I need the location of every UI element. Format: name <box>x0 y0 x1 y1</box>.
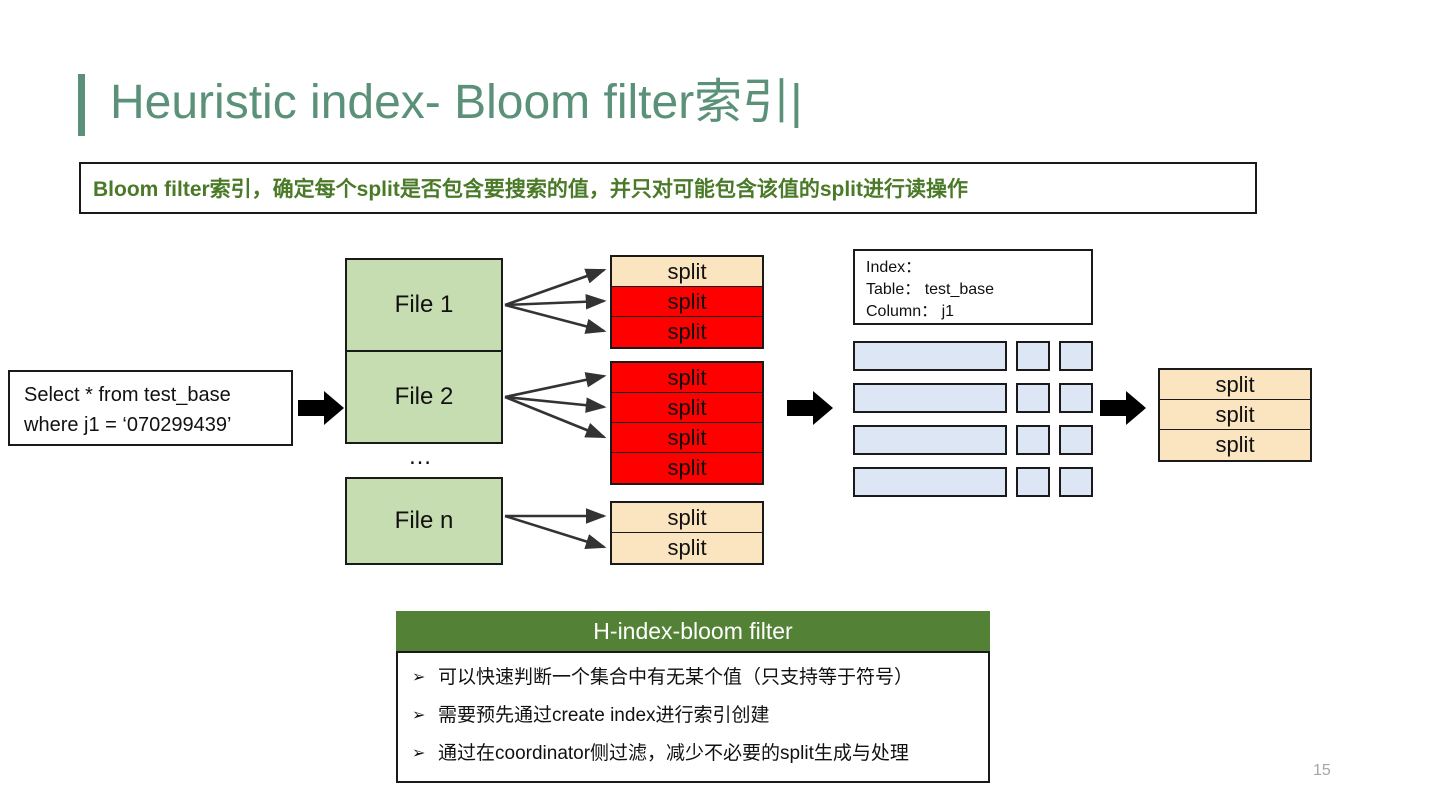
index-label-line: Index： <box>866 257 1091 279</box>
page-number: 15 <box>1313 762 1331 780</box>
panel-bullet-row: ➢通过在coordinator侧过滤，减少不必要的split生成与处理 <box>398 741 988 779</box>
sql-query-line-1: Select * from test_base <box>24 380 281 410</box>
sql-query-box: Select * from test_base where j1 = ‘0702… <box>8 370 293 446</box>
index-table-line: Table： test_base <box>866 279 1091 301</box>
flow-arrow-splits-to-index <box>787 391 833 425</box>
index-cell-grid <box>853 341 1093 497</box>
index-cell <box>1059 467 1093 497</box>
file-box-n: File n <box>345 477 503 565</box>
index-cell <box>1016 425 1050 455</box>
split-group-filen: splitsplit <box>610 501 764 565</box>
index-cell <box>853 383 1007 413</box>
split-cell: split <box>612 257 762 287</box>
index-cell <box>853 425 1007 455</box>
index-info-box: Index： Table： test_base Column： j1 <box>853 249 1093 325</box>
panel-header: H-index-bloom filter <box>396 611 990 651</box>
index-cell <box>1059 341 1093 371</box>
file-box-n-label: File n <box>395 507 454 535</box>
index-cell <box>1016 383 1050 413</box>
split-cell: split <box>612 503 762 533</box>
panel-bullet-row: ➢可以快速判断一个集合中有无某个值（只支持等于符号） <box>398 665 988 703</box>
file-box-2-label: File 2 <box>395 383 454 411</box>
split-cell: split <box>612 287 762 317</box>
page-title: Heuristic index- Bloom filter索引| <box>110 68 803 138</box>
split-cell: split <box>1160 400 1310 430</box>
panel-bullet-row: ➢需要预先通过create index进行索引创建 <box>398 703 988 741</box>
index-cell <box>853 467 1007 497</box>
split-group-file2: splitsplitsplitsplit <box>610 361 764 485</box>
split-cell: split <box>612 393 762 423</box>
title-accent-bar <box>78 74 85 136</box>
split-cell: split <box>612 533 762 563</box>
file-box-1-label: File 1 <box>395 291 454 319</box>
flow-arrow-index-to-result <box>1100 391 1146 425</box>
sql-query-line-2: where j1 = ‘070299439’ <box>24 410 281 440</box>
index-row <box>853 425 1093 455</box>
index-cell <box>853 341 1007 371</box>
bullet-arrow-icon: ➢ <box>412 703 438 729</box>
block-arrow-icon <box>298 391 344 425</box>
split-cell: split <box>612 423 762 453</box>
panel-bullet-text: 可以快速判断一个集合中有无某个值（只支持等于符号） <box>438 665 913 691</box>
index-column-line: Column： j1 <box>866 301 1091 323</box>
bullet-arrow-icon: ➢ <box>412 665 438 691</box>
panel-body: ➢可以快速判断一个集合中有无某个值（只支持等于符号）➢需要预先通过create … <box>396 651 990 783</box>
block-arrow-icon <box>1100 391 1146 425</box>
index-row <box>853 341 1093 371</box>
subtitle-banner: Bloom filter索引，确定每个split是否包含要搜索的值，并只对可能包… <box>79 162 1257 214</box>
split-cell: split <box>612 453 762 483</box>
split-group-file1: splitsplitsplit <box>610 255 764 349</box>
split-cell: split <box>1160 430 1310 460</box>
flow-arrow-query-to-files <box>298 391 344 425</box>
panel-bullet-text: 通过在coordinator侧过滤，减少不必要的split生成与处理 <box>438 741 909 767</box>
index-row <box>853 467 1093 497</box>
index-cell <box>1016 341 1050 371</box>
result-split-group: splitsplitsplit <box>1158 368 1312 462</box>
index-cell <box>1059 425 1093 455</box>
index-row <box>853 383 1093 413</box>
index-cell <box>1016 467 1050 497</box>
split-cell: split <box>1160 370 1310 400</box>
panel-bullet-text: 需要预先通过create index进行索引创建 <box>438 703 770 729</box>
bullet-arrow-icon: ➢ <box>412 741 438 767</box>
file-box-2: File 2 <box>345 350 503 444</box>
panel-header-label: H-index-bloom filter <box>593 618 792 645</box>
split-cell: split <box>612 317 762 347</box>
file-box-1: File 1 <box>345 258 503 352</box>
subtitle-text: Bloom filter索引，确定每个split是否包含要搜索的值，并只对可能包… <box>81 173 968 203</box>
split-cell: split <box>612 363 762 393</box>
files-ellipsis: … <box>408 443 434 471</box>
block-arrow-icon <box>787 391 833 425</box>
index-cell <box>1059 383 1093 413</box>
